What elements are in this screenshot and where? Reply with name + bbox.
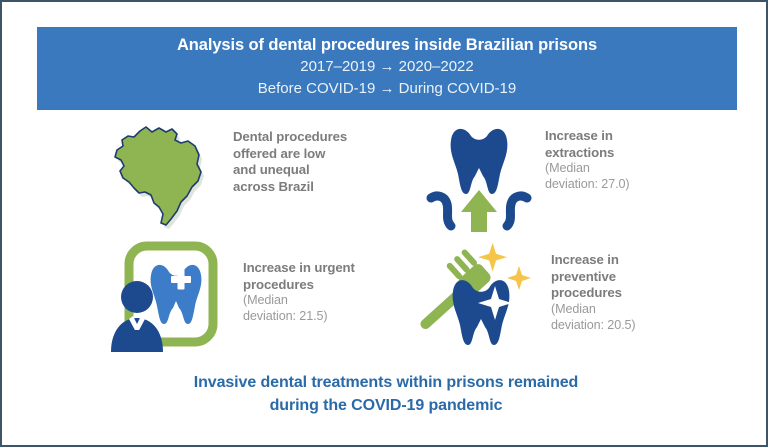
finding-label-line: Increase in (545, 128, 727, 145)
finding-label-line: offered are low (233, 146, 395, 163)
conclusion-statement: Invasive dental treatments within prison… (62, 372, 710, 417)
toothbrush-sparkle-icon (415, 242, 541, 354)
finding-label-line: preventive (551, 269, 727, 286)
findings-grid: Dental procedures offered are low and un… (37, 117, 737, 362)
finding-urgent-procedures: Increase in urgent procedures (Median de… (105, 242, 405, 354)
finding-sub-line: deviation: 21.5) (243, 309, 405, 325)
header-subtitle-context: Before COVID-19 → During COVID-19 (37, 78, 737, 100)
finding-extractions-text: Increase in extractions (Median deviatio… (531, 120, 727, 193)
dentist-urgent-care-icon (105, 242, 233, 354)
finding-preventive-text: Increase in preventive procedures (Media… (541, 242, 727, 334)
header-banner: Analysis of dental procedures inside Bra… (37, 27, 737, 110)
infographic-canvas: Analysis of dental procedures inside Bra… (0, 0, 768, 447)
finding-sub-line: (Median (551, 302, 727, 318)
finding-sub-line: (Median (545, 161, 727, 177)
conclusion-line-1: Invasive dental treatments within prison… (62, 372, 710, 395)
finding-sub-line: deviation: 20.5) (551, 318, 727, 334)
finding-label-line: procedures (243, 277, 405, 294)
finding-sub-line: (Median (243, 293, 405, 309)
finding-label-line: Increase in urgent (243, 260, 405, 277)
finding-urgent-text: Increase in urgent procedures (Median de… (233, 242, 405, 325)
tooth-extraction-icon (427, 120, 531, 232)
finding-extractions: Increase in extractions (Median deviatio… (427, 120, 727, 232)
finding-label-line: and unequal (233, 162, 395, 179)
page-title: Analysis of dental procedures inside Bra… (37, 34, 737, 56)
conclusion-line-2: during the COVID-19 pandemic (62, 395, 710, 418)
finding-label-line: procedures (551, 285, 727, 302)
finding-brazil-coverage: Dental procedures offered are low and un… (105, 120, 395, 230)
finding-preventive-procedures: Increase in preventive procedures (Media… (415, 242, 727, 354)
brazil-map-icon (105, 120, 215, 230)
finding-label-line: across Brazil (233, 179, 395, 196)
header-subtitle-period: 2017–2019 → 2020–2022 (37, 56, 737, 78)
finding-label-line: extractions (545, 145, 727, 162)
finding-sub-line: deviation: 27.0) (545, 177, 727, 193)
finding-brazil-text: Dental procedures offered are low and un… (215, 120, 395, 196)
finding-label-line: Increase in (551, 252, 727, 269)
finding-label-line: Dental procedures (233, 129, 395, 146)
